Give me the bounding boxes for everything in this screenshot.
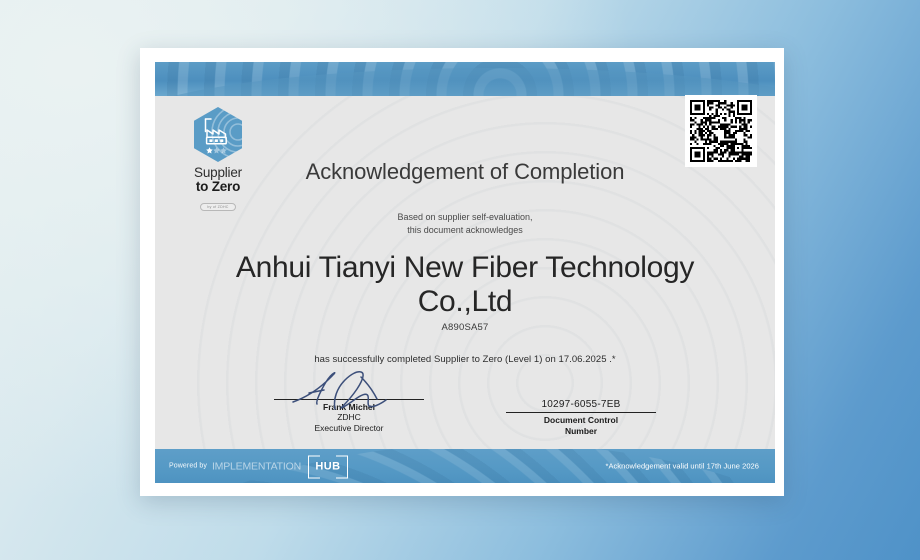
- hub-badge-text: HUB: [315, 460, 340, 472]
- company-code: A890SA57: [155, 322, 775, 333]
- company-name: Anhui Tianyi New Fiber Technology Co.,Lt…: [155, 251, 775, 318]
- certificate-body: Supplier to Zero by of ZDHC Acknowledgem…: [155, 62, 775, 483]
- completion-statement: has successfully completed Supplier to Z…: [155, 354, 775, 365]
- powered-by-block: Powered by IMPLEMENTATION HUB: [169, 456, 348, 477]
- signature-block: Frank Michel ZDHC Executive Director: [274, 399, 424, 437]
- subtitle: Based on supplier self-evaluation, this …: [155, 211, 775, 237]
- factory-hexagon-icon: [192, 106, 244, 163]
- powered-by-label: Powered by: [169, 463, 207, 470]
- document-control-number: 10297-6055-7EB: [506, 399, 656, 410]
- document-control-rule: [506, 412, 656, 413]
- document-control-block: 10297-6055-7EB Document Control Number: [506, 399, 656, 437]
- subtitle-line-1: Based on supplier self-evaluation,: [155, 211, 775, 224]
- signatory-name: Frank Michel: [274, 402, 424, 412]
- document-control-label-line-2: Number: [506, 426, 656, 437]
- top-banner: [155, 62, 775, 96]
- document-control-label-line-1: Document Control: [506, 415, 656, 426]
- logo-line-supplier: Supplier: [182, 166, 254, 180]
- signature-rule: [274, 399, 424, 400]
- hub-badge: HUB: [308, 456, 348, 477]
- signatory-role: Executive Director: [274, 423, 424, 434]
- validity-note: *Acknowledgement valid until 17th June 2…: [605, 462, 759, 471]
- subtitle-line-2: this document acknowledges: [155, 224, 775, 237]
- signature-row: Frank Michel ZDHC Executive Director 102…: [155, 399, 775, 437]
- qr-code[interactable]: [685, 95, 757, 167]
- qr-code-canvas: [690, 100, 752, 162]
- certificate-paper: Supplier to Zero by of ZDHC Acknowledgem…: [140, 48, 784, 496]
- logo-pill-text: by of ZDHC: [200, 203, 235, 212]
- bottom-banner: Powered by IMPLEMENTATION HUB *Acknowled…: [155, 449, 775, 483]
- implementation-word: IMPLEMENTATION: [212, 460, 301, 472]
- signatory-organisation: ZDHC: [274, 412, 424, 423]
- logo-line-to-zero: to Zero: [182, 180, 254, 194]
- document-control-label: Document Control Number: [506, 415, 656, 437]
- supplier-to-zero-logo: Supplier to Zero by of ZDHC: [182, 106, 254, 213]
